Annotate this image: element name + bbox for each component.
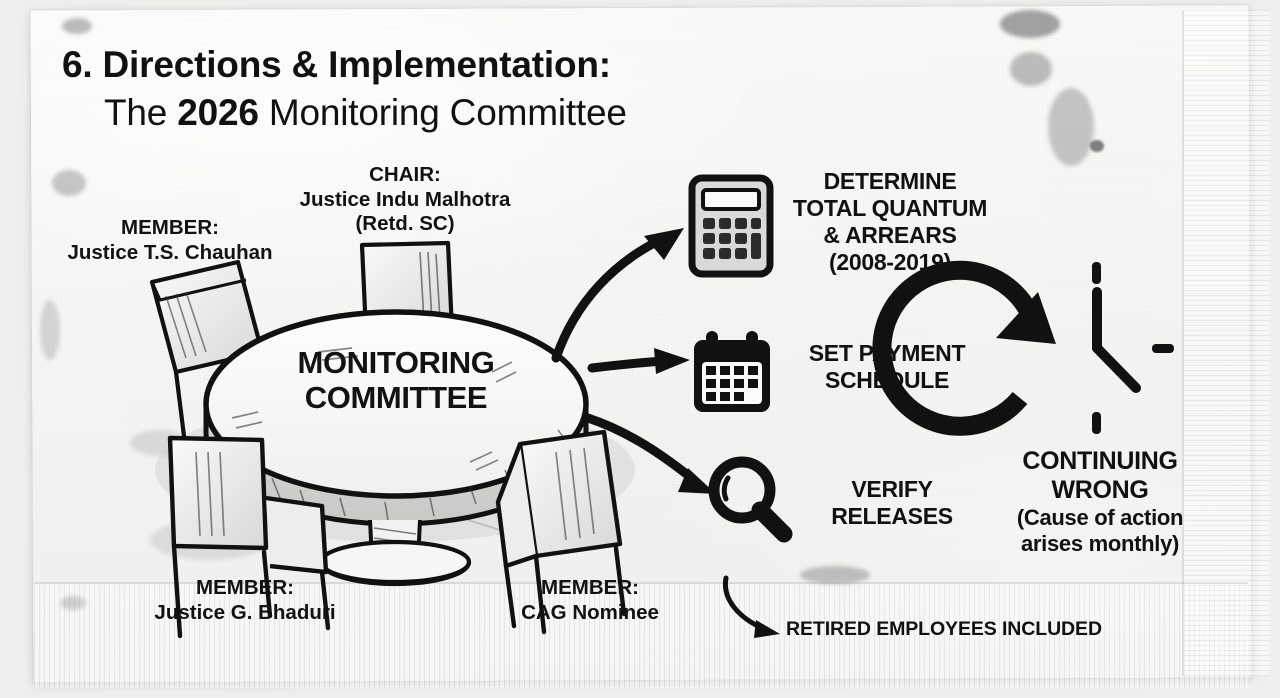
task-label-payment-schedule: SET PAYMENT SCHEDULE xyxy=(784,340,990,394)
member-name-bottom-left: Justice G. Bhaduri xyxy=(125,601,365,626)
task-2-line2: RELEASES xyxy=(800,503,984,530)
calendar-icon xyxy=(694,331,770,412)
task-label-determine-quantum: DETERMINE TOTAL QUANTUM & ARREARS (2008-… xyxy=(782,168,998,276)
member-role-left: MEMBER: xyxy=(55,216,285,241)
task-0-line2: TOTAL QUANTUM xyxy=(782,195,998,222)
clock-line1: CONTINUING xyxy=(975,447,1225,476)
calculator-icon xyxy=(692,178,770,274)
table-center-line2: COMMITTEE xyxy=(246,380,546,415)
clock-line2: WRONG xyxy=(975,476,1225,505)
member-role-bottom-right: MEMBER: xyxy=(470,576,710,601)
task-0-line3: & ARREARS xyxy=(782,222,998,249)
member-name-bottom-right: CAG Nominee xyxy=(470,601,710,626)
task-0-line4: (2008-2019) xyxy=(782,249,998,276)
chair-name: Justice Indu Malhotra xyxy=(285,188,525,213)
table-center-label: MONITORING COMMITTEE xyxy=(246,345,546,416)
member-label-left: MEMBER: Justice T.S. Chauhan xyxy=(55,216,285,265)
chair-label-top: CHAIR: Justice Indu Malhotra (Retd. SC) xyxy=(285,163,525,237)
task-1-line2: SCHEDULE xyxy=(784,367,990,394)
clock-line4: arises monthly) xyxy=(975,531,1225,557)
member-label-bottom-left: MEMBER: Justice G. Bhaduri xyxy=(125,576,365,625)
task-1-line1: SET PAYMENT xyxy=(784,340,990,367)
arrow-to-calculator xyxy=(556,228,684,358)
member-role-bottom-left: MEMBER: xyxy=(125,576,365,601)
task-2-line1: VERIFY xyxy=(800,476,984,503)
clock-line3: (Cause of action xyxy=(975,505,1225,531)
table-center-line1: MONITORING xyxy=(246,345,546,380)
magnifier-icon xyxy=(714,462,784,534)
member-name-left: Justice T.S. Chauhan xyxy=(55,241,285,266)
task-label-verify-releases: VERIFY RELEASES xyxy=(800,476,984,530)
chair-role: CHAIR: xyxy=(285,163,525,188)
continuing-wrong-caption: CONTINUING WRONG (Cause of action arises… xyxy=(975,447,1225,556)
member-label-bottom-right: MEMBER: CAG Nominee xyxy=(470,576,710,625)
chair-qualifier: (Retd. SC) xyxy=(285,212,525,237)
arrow-to-calendar xyxy=(592,348,690,374)
napkin-diagram: 6. Directions & Implementation: The 2026… xyxy=(0,0,1280,698)
retired-employees-note: RETIRED EMPLOYEES INCLUDED xyxy=(786,618,1102,641)
arrow-to-retired-note xyxy=(725,578,780,638)
task-0-line1: DETERMINE xyxy=(782,168,998,195)
